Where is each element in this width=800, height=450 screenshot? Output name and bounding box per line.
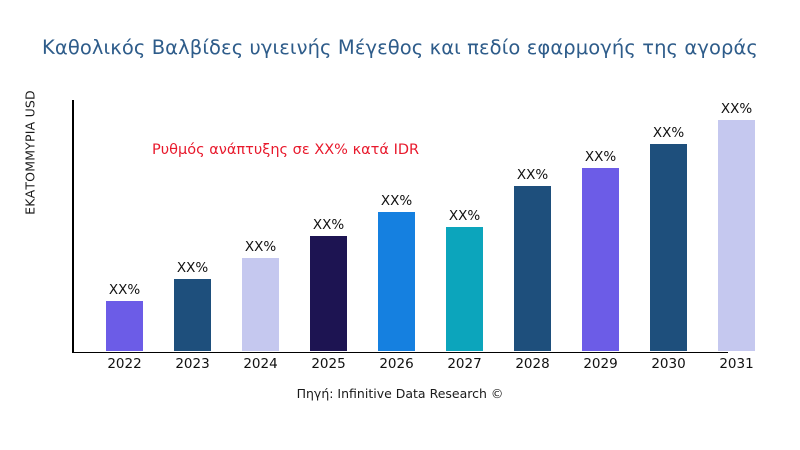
bar-rect-2027[interactable]	[446, 227, 483, 351]
x-tick-2030: 2030	[638, 356, 699, 372]
bar-rect-2030[interactable]	[650, 144, 687, 351]
bar-value-label-2028: XX%	[502, 167, 563, 183]
bar-value-label-2030: XX%	[638, 125, 699, 141]
x-tick-2025: 2025	[298, 356, 359, 372]
bar-rect-2028[interactable]	[514, 186, 551, 351]
bar-value-label-2024: XX%	[230, 239, 291, 255]
x-tick-2028: 2028	[502, 356, 563, 372]
y-axis-title: ΕΚΑΤΟΜΜΥΡΙΑ USD	[23, 38, 38, 268]
bar-rect-2022[interactable]	[106, 301, 143, 351]
bar-value-label-2031: XX%	[706, 101, 767, 117]
x-axis-line	[72, 352, 728, 354]
x-tick-2031: 2031	[706, 356, 767, 372]
source-note: Πηγή: Infinitive Data Research ©	[0, 386, 800, 401]
bar-rect-2031[interactable]	[718, 120, 755, 351]
x-tick-2029: 2029	[570, 356, 631, 372]
bar-value-label-2027: XX%	[434, 208, 495, 224]
x-axis-tick-labels: 2022202320242025202620272028202920302031	[72, 356, 800, 380]
growth-rate-annotation: Ρυθμός ανάπτυξης σε XX% κατά IDR	[152, 142, 419, 158]
bar-rect-2026[interactable]	[378, 212, 415, 351]
chart-container: Καθολικός Βαλβίδες υγιεινής Μέγεθος και …	[0, 0, 800, 450]
x-tick-2022: 2022	[94, 356, 155, 372]
plot-area: XX%XX%XX%XX%XX%XX%XX%XX%XX%XX%	[72, 100, 728, 353]
bar-rect-2024[interactable]	[242, 258, 279, 351]
bar-value-label-2026: XX%	[366, 193, 427, 209]
bar-value-label-2023: XX%	[162, 260, 223, 276]
bar-value-label-2029: XX%	[570, 149, 631, 165]
chart-title: Καθολικός Βαλβίδες υγιεινής Μέγεθος και …	[0, 36, 800, 59]
x-tick-2026: 2026	[366, 356, 427, 372]
x-tick-2024: 2024	[230, 356, 291, 372]
x-tick-2023: 2023	[162, 356, 223, 372]
bar-value-label-2022: XX%	[94, 282, 155, 298]
bar-rect-2029[interactable]	[582, 168, 619, 351]
bar-rect-2023[interactable]	[174, 279, 211, 351]
x-tick-2027: 2027	[434, 356, 495, 372]
y-axis-line	[72, 100, 74, 353]
bar-rect-2025[interactable]	[310, 236, 347, 351]
bar-value-label-2025: XX%	[298, 217, 359, 233]
